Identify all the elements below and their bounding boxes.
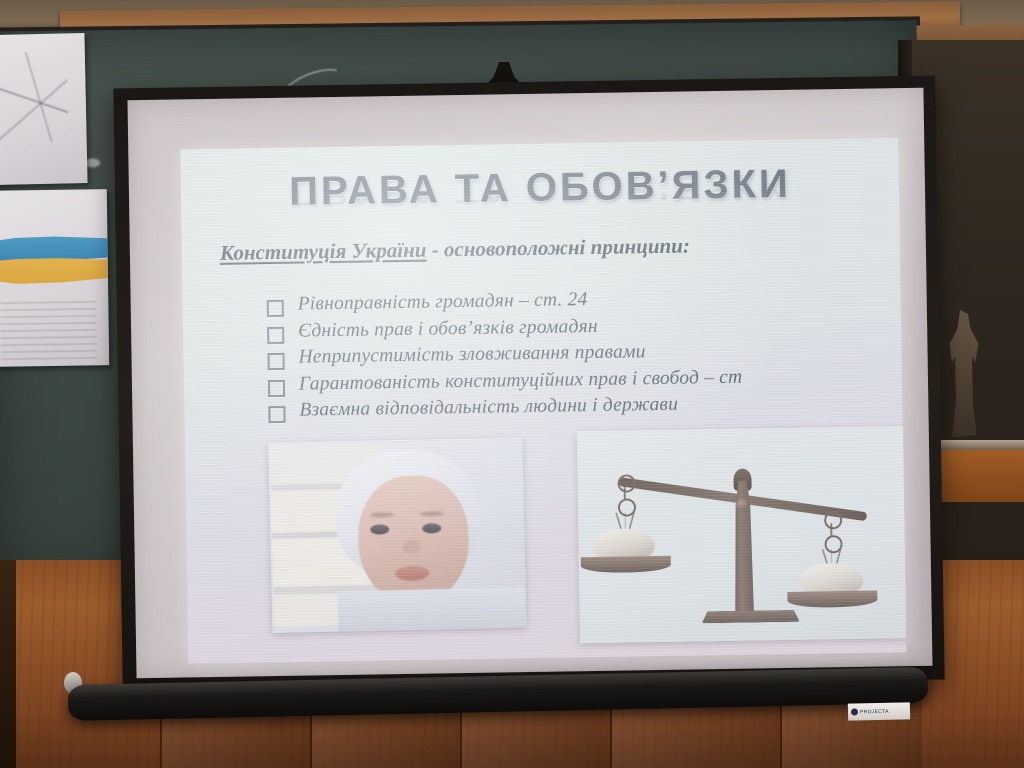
list-item-label: Взаємна відповідальність людини і держав… [299, 394, 678, 422]
checkbox-bullet-icon [267, 353, 284, 370]
list-item-label: Єдність прав і обов’язків громадян [298, 315, 598, 342]
cabinet-side-shadow [0, 560, 16, 768]
scales-pivot [736, 499, 748, 511]
subtitle-underlined: Конституція України [220, 238, 427, 265]
projector-screen: ПРАВА ТА ОБОВ’ЯЗКИ ПРАВА ТА ОБОВ’ЯЗКИ Ко… [113, 76, 944, 693]
list-item-label: Рівноправність громадян – ст. 24 [298, 289, 588, 316]
projected-slide: ПРАВА ТА ОБОВ’ЯЗКИ ПРАВА ТА ОБОВ’ЯЗКИ Ко… [180, 138, 906, 663]
scales-base [702, 610, 800, 624]
wall-poster-sketch [0, 33, 88, 185]
subtitle-dash: - [426, 237, 444, 261]
checkbox-bullet-icon [268, 379, 285, 396]
screen-brand-label: PROJECTA [848, 702, 910, 720]
sketch-drawing [0, 51, 69, 142]
brand-logo-icon [851, 708, 858, 715]
screen-surface: ПРАВА ТА ОБОВ’ЯЗКИ ПРАВА ТА ОБОВ’ЯЗКИ Ко… [127, 88, 932, 678]
slide-image-scales [577, 426, 907, 643]
classroom-photo: ПРАВА ТА ОБОВ’ЯЗКИ ПРАВА ТА ОБОВ’ЯЗКИ Ко… [0, 0, 1024, 768]
wall-poster-flag [0, 189, 109, 367]
subtitle-rest: основоположні принципи: [444, 233, 690, 261]
checkbox-bullet-icon [267, 326, 284, 343]
checkbox-bullet-icon [267, 300, 284, 317]
handwritten-lines [0, 301, 97, 360]
child-shoulder [338, 587, 527, 633]
slide-image-child [268, 437, 526, 633]
ukrainian-flag-yellow-stripe [0, 257, 108, 285]
bullet-list: Рівноправність громадян – ст. 24 Єдність… [267, 284, 907, 427]
slide-subtitle: Конституція України - основоположні прин… [220, 233, 690, 265]
brand-name: PROJECTA [860, 708, 889, 715]
list-item-label: Неприпустимість зловживання правами [298, 341, 645, 368]
checkbox-bullet-icon [268, 406, 285, 423]
